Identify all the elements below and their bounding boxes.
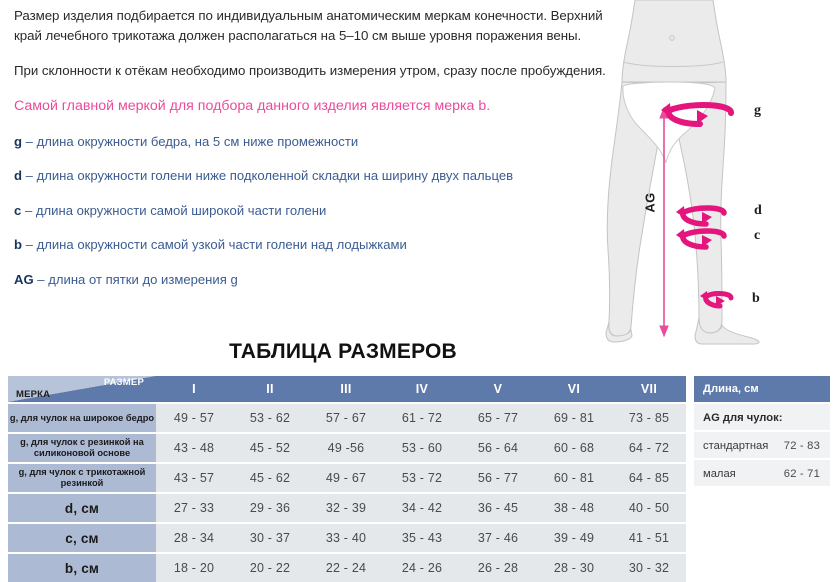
- definition-item-b: b – длина окружности самой узкой части г…: [14, 237, 614, 253]
- definition-key-c: c: [14, 203, 21, 218]
- cell-r0-c5: 69 - 81: [536, 403, 612, 433]
- cell-r4-c5: 39 - 49: [536, 523, 612, 553]
- definition-item-g: g – длина окружности бедра, на 5 см ниже…: [14, 134, 614, 150]
- cell-r4-c2: 33 - 40: [308, 523, 384, 553]
- row-label-g-wide-thigh: g, для чулок на широкое бедро: [8, 403, 156, 433]
- definition-key-ag: AG: [14, 272, 34, 287]
- cell-r3-c3: 34 - 42: [384, 493, 460, 523]
- cell-r1-c1: 45 - 52: [232, 433, 308, 463]
- definition-text-c: длина окружности самой широкой части гол…: [36, 203, 326, 218]
- table-row: b, см 18 - 20 20 - 22 22 - 24 24 - 26 26…: [8, 553, 686, 582]
- cell-r0-c0: 49 - 57: [156, 403, 232, 433]
- length-panel-value-small: 62 - 71: [784, 460, 820, 488]
- cell-r2-c5: 60 - 81: [536, 463, 612, 493]
- cell-r0-c2: 57 - 67: [308, 403, 384, 433]
- definition-key-b: b: [14, 237, 22, 252]
- table-row: g, для чулок с резинкой на силиконовой о…: [8, 433, 686, 463]
- column-header-7: VII: [612, 376, 686, 403]
- cell-r0-c3: 61 - 72: [384, 403, 460, 433]
- cell-r1-c0: 43 - 48: [156, 433, 232, 463]
- row-label-g-knit-band: g, для чулок с трикотажной резинкой: [8, 463, 156, 493]
- length-panel-title-row: AG для чулок:: [694, 402, 830, 430]
- length-panel-name-small: малая: [703, 460, 736, 488]
- diagram-label-b: b: [752, 291, 760, 307]
- definition-dash-b: –: [26, 237, 33, 252]
- cell-r3-c1: 29 - 36: [232, 493, 308, 523]
- definition-item-d: d – длина окружности голени ниже подколе…: [14, 168, 614, 184]
- length-panel-value-standard: 72 - 83: [784, 432, 820, 460]
- table-row: d, см 27 - 33 29 - 36 32 - 39 34 - 42 36…: [8, 493, 686, 523]
- size-table: РАЗМЕР МЕРКА I II III IV V VI VII g, для…: [8, 376, 686, 582]
- corner-merka-label: МЕРКА: [16, 389, 50, 400]
- column-header-6: VI: [536, 376, 612, 403]
- intro-paragraph-2: При склонности к отёкам необходимо произ…: [14, 61, 614, 81]
- cell-r5-c6: 30 - 32: [612, 553, 686, 582]
- row-label-g-silicone-band: g, для чулок с резинкой на силиконовой о…: [8, 433, 156, 463]
- diagram-label-g: g: [754, 103, 761, 119]
- cell-r1-c3: 53 - 60: [384, 433, 460, 463]
- diagram-label-ag: AG: [643, 192, 658, 212]
- cell-r1-c4: 56 - 64: [460, 433, 536, 463]
- cell-r5-c2: 22 - 24: [308, 553, 384, 582]
- size-table-head: РАЗМЕР МЕРКА I II III IV V VI VII: [8, 376, 686, 403]
- table-row: c, см 28 - 34 30 - 37 33 - 40 35 - 43 37…: [8, 523, 686, 553]
- row-label-c: c, см: [8, 523, 156, 553]
- definition-text-g: длина окружности бедра, на 5 см ниже про…: [37, 134, 359, 149]
- cell-r5-c4: 26 - 28: [460, 553, 536, 582]
- length-panel-header: Длина, см: [694, 376, 830, 402]
- instructions-column: Размер изделия подбирается по индивидуал…: [14, 6, 614, 306]
- cell-r0-c1: 53 - 62: [232, 403, 308, 433]
- cell-r4-c0: 28 - 34: [156, 523, 232, 553]
- cell-r4-c3: 35 - 43: [384, 523, 460, 553]
- cell-r0-c6: 73 - 85: [612, 403, 686, 433]
- definition-dash-ag: –: [37, 272, 44, 287]
- cell-r2-c3: 53 - 72: [384, 463, 460, 493]
- diagram-label-c: c: [754, 228, 760, 244]
- cell-r5-c1: 20 - 22: [232, 553, 308, 582]
- table-row: g, для чулок на широкое бедро 49 - 57 53…: [8, 403, 686, 433]
- cell-r2-c2: 49 - 67: [308, 463, 384, 493]
- cell-r4-c4: 37 - 46: [460, 523, 536, 553]
- cell-r4-c6: 41 - 51: [612, 523, 686, 553]
- cell-r0-c4: 65 - 77: [460, 403, 536, 433]
- female-lower-body-illustration: [600, 0, 836, 345]
- column-header-1: I: [156, 376, 232, 403]
- corner-size-label: РАЗМЕР: [104, 377, 144, 388]
- measurement-definitions-list: g – длина окружности бедра, на 5 см ниже…: [14, 134, 614, 288]
- definition-dash-c: –: [25, 203, 32, 218]
- cell-r5-c5: 28 - 30: [536, 553, 612, 582]
- table-row: g, для чулок с трикотажной резинкой 43 -…: [8, 463, 686, 493]
- cell-r1-c2: 49 -56: [308, 433, 384, 463]
- cell-r4-c1: 30 - 37: [232, 523, 308, 553]
- definition-dash-d: –: [26, 168, 33, 183]
- length-panel: Длина, см AG для чулок: стандартная 72 -…: [694, 376, 830, 486]
- diagram-label-d: d: [754, 203, 762, 219]
- cell-r2-c0: 43 - 57: [156, 463, 232, 493]
- definition-key-g: g: [14, 134, 22, 149]
- cell-r2-c1: 45 - 62: [232, 463, 308, 493]
- intro-paragraph-1: Размер изделия подбирается по индивидуал…: [14, 6, 614, 45]
- column-header-3: III: [308, 376, 384, 403]
- leg-measurement-diagram: g d c b AG: [600, 0, 836, 345]
- column-header-2: II: [232, 376, 308, 403]
- length-panel-name-standard: стандартная: [703, 432, 768, 460]
- size-table-title: ТАБЛИЦА РАЗМЕРОВ: [0, 340, 686, 364]
- length-panel-row-standard: стандартная 72 - 83: [694, 430, 830, 458]
- length-panel-row-small: малая 62 - 71: [694, 458, 830, 486]
- cell-r5-c0: 18 - 20: [156, 553, 232, 582]
- cell-r5-c3: 24 - 26: [384, 553, 460, 582]
- definition-text-d: длина окружности голени ниже подколенной…: [37, 168, 514, 183]
- definition-item-ag: AG – длина от пятки до измерения g: [14, 272, 614, 288]
- cell-r2-c4: 56 - 77: [460, 463, 536, 493]
- cell-r3-c6: 40 - 50: [612, 493, 686, 523]
- definition-text-ag: длина от пятки до измерения g: [48, 272, 238, 287]
- row-label-b: b, см: [8, 553, 156, 582]
- key-measurement-note: Самой главной меркой для подбора данного…: [14, 97, 614, 116]
- row-label-d: d, см: [8, 493, 156, 523]
- column-header-4: IV: [384, 376, 460, 403]
- cell-r3-c4: 36 - 45: [460, 493, 536, 523]
- definition-dash-g: –: [26, 134, 33, 149]
- definition-text-b: длина окружности самой узкой части голен…: [37, 237, 407, 252]
- cell-r1-c5: 60 - 68: [536, 433, 612, 463]
- cell-r2-c6: 64 - 85: [612, 463, 686, 493]
- definition-item-c: c – длина окружности самой широкой части…: [14, 203, 614, 219]
- table-corner-header: РАЗМЕР МЕРКА: [8, 376, 156, 403]
- cell-r3-c0: 27 - 33: [156, 493, 232, 523]
- definition-key-d: d: [14, 168, 22, 183]
- cell-r3-c2: 32 - 39: [308, 493, 384, 523]
- column-header-5: V: [460, 376, 536, 403]
- cell-r1-c6: 64 - 72: [612, 433, 686, 463]
- size-table-body: g, для чулок на широкое бедро 49 - 57 53…: [8, 403, 686, 582]
- cell-r3-c5: 38 - 48: [536, 493, 612, 523]
- size-table-header-row: РАЗМЕР МЕРКА I II III IV V VI VII: [8, 376, 686, 403]
- length-panel-title-text: AG для чулок:: [703, 404, 782, 432]
